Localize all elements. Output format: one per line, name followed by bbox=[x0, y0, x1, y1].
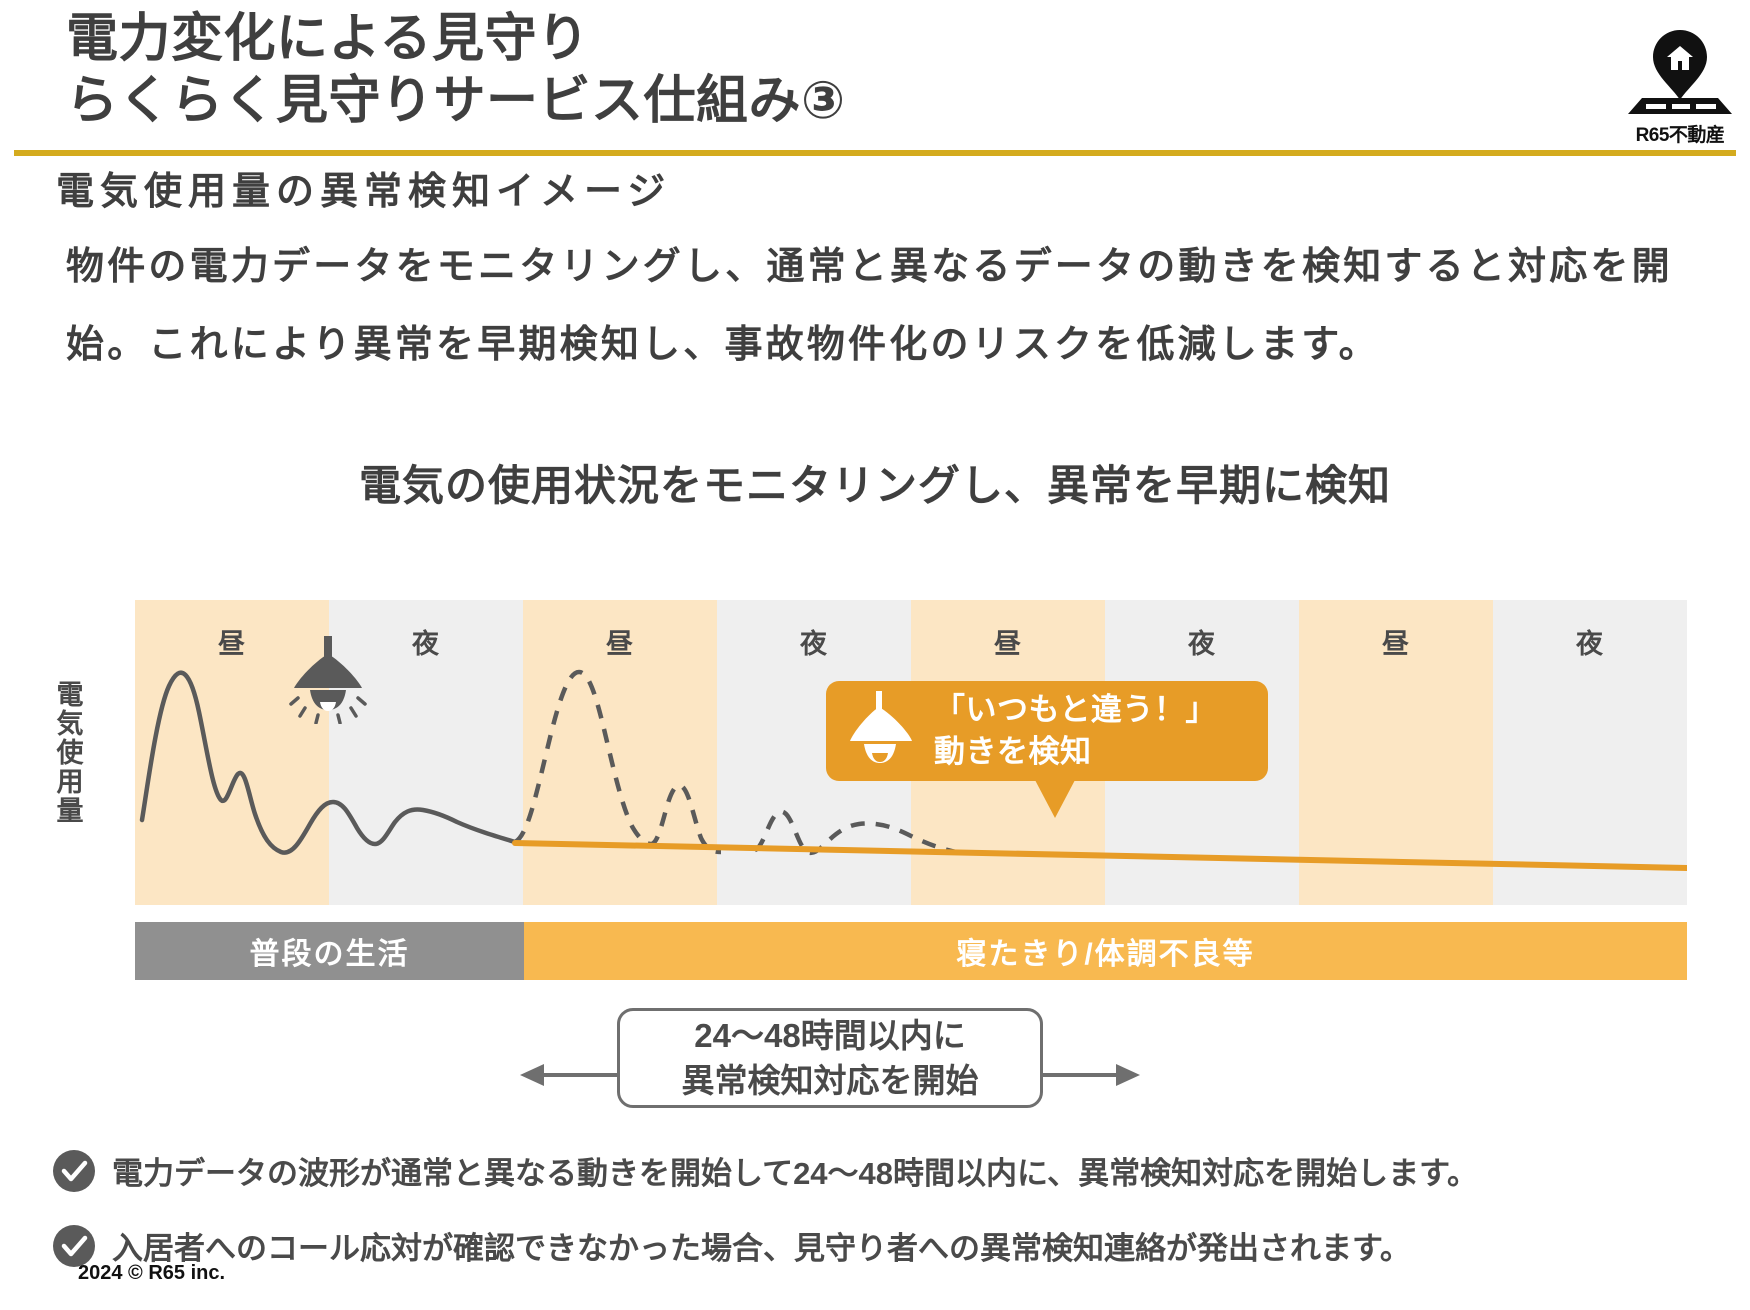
map-pin-house-road-icon bbox=[1620, 24, 1740, 122]
phase-bar: 普段の生活 寝たきり/体調不良等 bbox=[135, 922, 1687, 980]
phase-abnormal: 寝たきり/体調不良等 bbox=[524, 922, 1687, 980]
slide-root: 電力変化による見守り らくらく見守りサービス仕組み③ R65不動産 電気使用量の… bbox=[0, 0, 1750, 1310]
logo-text: R65不動産 bbox=[1620, 120, 1740, 147]
check-circle-glyph bbox=[52, 1224, 96, 1268]
page-title-line-2: らくらく見守りサービス仕組み③ bbox=[66, 70, 1266, 132]
r65-logo: R65不動産 bbox=[1620, 24, 1740, 142]
list-item: 入居者へのコール応対が確認できなかった場合、見守り者への異常検知連絡が発出されま… bbox=[52, 1223, 1712, 1268]
chart-title: 電気の使用状況をモニタリングし、異常を早期に検知 bbox=[0, 452, 1750, 513]
page-title: 電力変化による見守り らくらく見守りサービス仕組み③ bbox=[66, 8, 1266, 132]
title-divider bbox=[14, 150, 1736, 156]
lamp-icon bbox=[826, 691, 934, 771]
anomaly-callout-tail bbox=[1035, 780, 1075, 818]
duration-note: 24〜48時間以内に 異常検知対応を開始 bbox=[617, 1008, 1043, 1108]
check-circle-icon bbox=[52, 1224, 96, 1268]
duration-note-line-2: 異常検知対応を開始 bbox=[682, 1058, 979, 1103]
bullet-list: 電力データの波形が通常と異なる動きを開始して24〜48時間以内に、異常検知対応を… bbox=[52, 1148, 1712, 1298]
list-item-text: 電力データの波形が通常と異なる動きを開始して24〜48時間以内に、異常検知対応を… bbox=[112, 1148, 1478, 1193]
page-title-line-1: 電力変化による見守り bbox=[66, 8, 1266, 70]
check-circle-icon bbox=[52, 1149, 96, 1193]
anomaly-callout-text: 「いつもと違う！」 動きを検知 bbox=[934, 689, 1233, 773]
anomaly-callout[interactable]: 「いつもと違う！」 動きを検知 bbox=[826, 681, 1268, 781]
lead-paragraph: 物件の電力データをモニタリングし、通常と異なるデータの動きを検知すると対応を開始… bbox=[66, 228, 1706, 384]
series-abnormal-line bbox=[515, 672, 721, 852]
section-subhead: 電気使用量の異常検知イメージ bbox=[56, 160, 671, 215]
chart-y-axis-label-text: 電気使用量 bbox=[49, 680, 88, 825]
check-circle-glyph bbox=[52, 1149, 96, 1193]
anomaly-callout-line-2: 動きを検知 bbox=[934, 731, 1217, 773]
footer-copyright: 2024 © R65 inc. bbox=[78, 1262, 225, 1285]
anomaly-callout-line-1: 「いつもと違う！」 bbox=[934, 689, 1217, 731]
list-item-text: 入居者へのコール応対が確認できなかった場合、見守り者への異常検知連絡が発出されま… bbox=[112, 1223, 1411, 1268]
phase-normal: 普段の生活 bbox=[135, 922, 524, 980]
list-item: 電力データの波形が通常と異なる動きを開始して24〜48時間以内に、異常検知対応を… bbox=[52, 1148, 1712, 1193]
series-baseline bbox=[515, 843, 1687, 868]
lamp-white-icon bbox=[843, 691, 917, 771]
duration-note-line-1: 24〜48時間以内に bbox=[694, 1013, 965, 1058]
lamp-icon bbox=[288, 636, 368, 724]
chart-y-axis-label: 電気使用量 bbox=[48, 600, 88, 905]
lamp-silhouette-icon bbox=[288, 636, 368, 724]
